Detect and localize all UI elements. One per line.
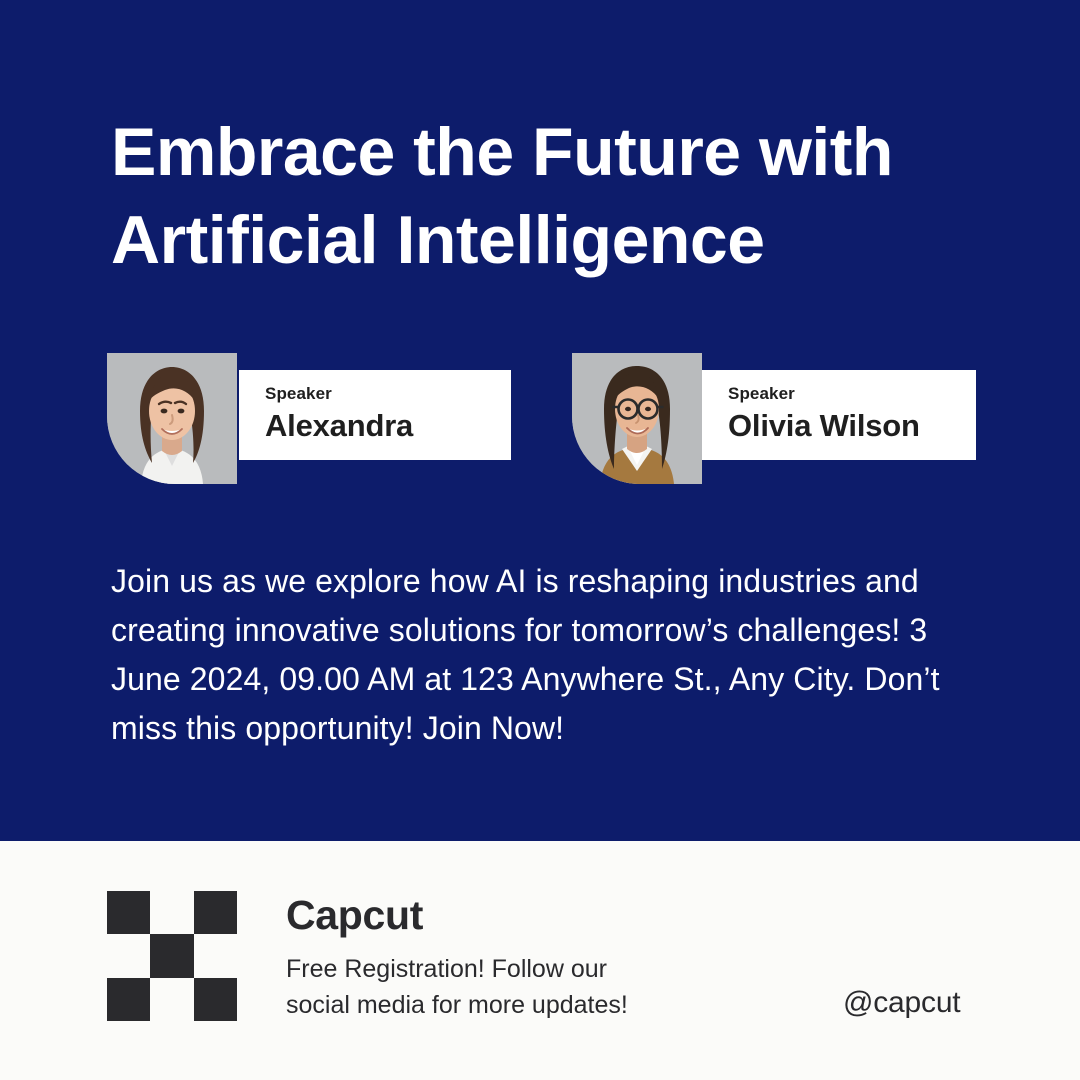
brand-tagline: Free Registration! Follow our social med… bbox=[286, 951, 756, 1023]
brand-name: Capcut bbox=[286, 892, 756, 939]
hero-section: Embrace the Future with Artificial Intel… bbox=[0, 0, 1080, 841]
checkerboard-logo-icon bbox=[107, 891, 237, 1021]
speaker-name-label: Alexandra bbox=[265, 407, 503, 446]
page-title: Embrace the Future with Artificial Intel… bbox=[111, 108, 1011, 285]
event-description: Join us as we explore how AI is reshapin… bbox=[111, 557, 991, 753]
brand-tagline-line-1: Free Registration! Follow our bbox=[286, 951, 756, 987]
brand-tagline-line-2: social media for more updates! bbox=[286, 987, 756, 1023]
speaker-card-olivia-wilson[interactable]: Speaker Olivia Wilson bbox=[572, 353, 976, 485]
page-title-line-2: Artificial Intelligence bbox=[111, 196, 1011, 284]
brand-block: Capcut Free Registration! Follow our soc… bbox=[286, 892, 756, 1023]
page-title-line-1: Embrace the Future with bbox=[111, 108, 1011, 196]
avatar bbox=[107, 353, 237, 484]
speaker-name-label: Olivia Wilson bbox=[728, 407, 968, 446]
event-poster: Embrace the Future with Artificial Intel… bbox=[0, 0, 1080, 1080]
speaker-name-plate: Speaker Olivia Wilson bbox=[702, 370, 976, 460]
avatar bbox=[572, 353, 702, 484]
speaker-card-alexandra[interactable]: Speaker Alexandra bbox=[107, 353, 511, 485]
speaker-role-label: Speaker bbox=[728, 384, 968, 404]
social-handle[interactable]: @capcut bbox=[843, 986, 960, 1020]
speaker-role-label: Speaker bbox=[265, 384, 503, 404]
speaker-list: Speaker Alexandra bbox=[107, 353, 973, 485]
speaker-name-plate: Speaker Alexandra bbox=[239, 370, 511, 460]
